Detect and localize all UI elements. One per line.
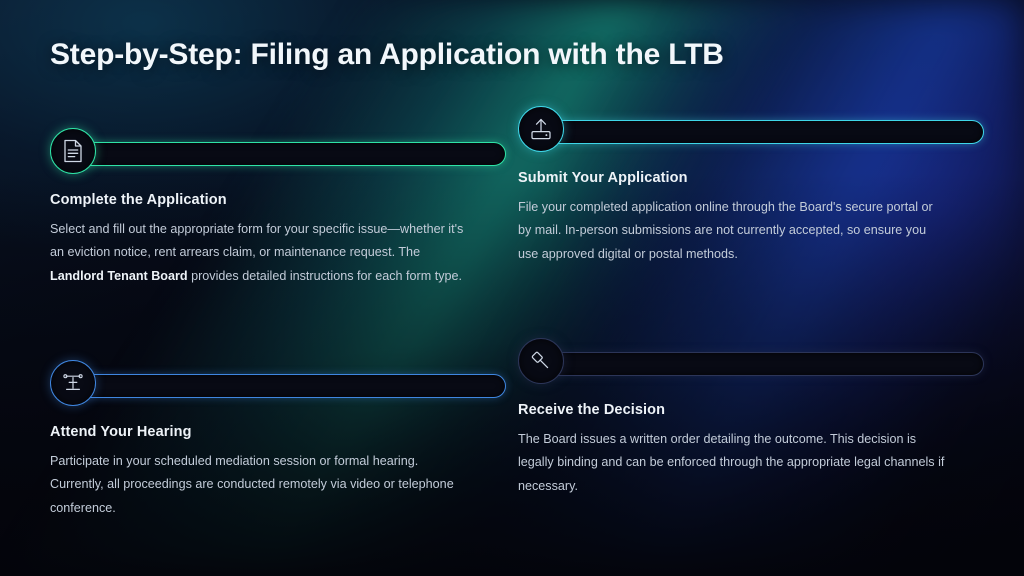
step-body-pre: The Board issues a written order detaili… — [518, 432, 944, 493]
step-body-strong: Landlord Tenant Board — [50, 269, 188, 283]
step-body: File your completed application online t… — [518, 196, 948, 266]
step-icon-circle[interactable] — [50, 360, 96, 406]
slide-canvas: Step-by-Step: Filing an Application with… — [0, 0, 1024, 576]
step-icon-circle[interactable] — [50, 128, 96, 174]
step-progress-bar — [76, 142, 506, 166]
step-node-row — [50, 128, 516, 180]
step-icon-circle[interactable] — [518, 106, 564, 152]
step-node-row — [518, 338, 984, 390]
step-item-complete-the-application: Complete the Application Select and fill… — [50, 128, 516, 288]
page-title: Step-by-Step: Filing an Application with… — [50, 38, 724, 72]
step-icon-circle[interactable] — [518, 338, 564, 384]
step-heading: Receive the Decision — [518, 402, 984, 418]
step-progress-bar — [76, 374, 506, 398]
step-body-post: provides detailed instructions for each … — [188, 269, 462, 283]
steps-container: Complete the Application Select and fill… — [0, 0, 1024, 576]
step-item-receive-the-decision: Receive the Decision The Board issues a … — [518, 338, 984, 498]
step-body: Select and fill out the appropriate form… — [50, 218, 468, 288]
step-body: The Board issues a written order detaili… — [518, 428, 948, 498]
step-heading: Complete the Application — [50, 192, 516, 208]
step-heading: Submit Your Application — [518, 170, 984, 186]
step-body-pre: File your completed application online t… — [518, 200, 933, 261]
step-progress-bar — [544, 352, 984, 376]
step-node-row — [518, 106, 984, 158]
step-heading: Attend Your Hearing — [50, 424, 516, 440]
step-body-pre: Select and fill out the appropriate form… — [50, 222, 463, 259]
step-body-pre: Participate in your scheduled mediation … — [50, 454, 454, 515]
step-body: Participate in your scheduled mediation … — [50, 450, 468, 520]
upload-icon — [529, 117, 553, 141]
scales-balance-icon — [61, 371, 85, 395]
gavel-icon — [529, 349, 553, 373]
step-item-attend-your-hearing: Attend Your Hearing Participate in your … — [50, 360, 516, 520]
step-progress-bar — [544, 120, 984, 144]
step-node-row — [50, 360, 516, 412]
step-item-submit-your-application: Submit Your Application File your comple… — [518, 106, 984, 266]
document-icon — [62, 139, 84, 163]
